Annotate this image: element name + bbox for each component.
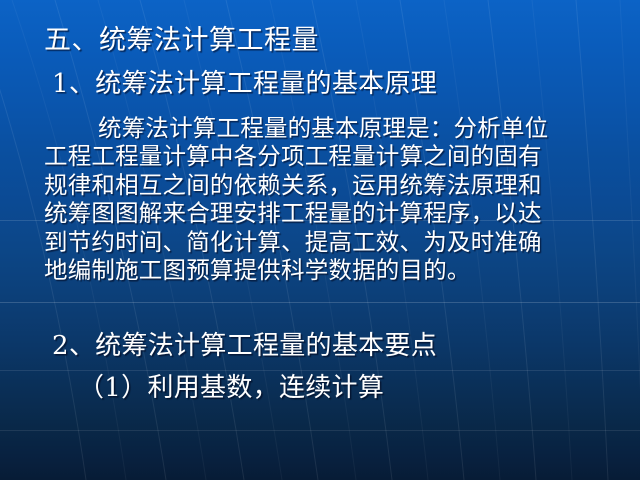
slide-subtitle: 1、统筹法计算工程量的基本原理 (52, 71, 437, 98)
presentation-slide: 五、统筹法计算工程量 1、统筹法计算工程量的基本原理 统筹法计算工程量的基本原理… (0, 0, 640, 480)
body-paragraph: 统筹法计算工程量的基本原理是：分析单位 工程工程量计算中各分项工程量计算之间的固… (44, 114, 596, 284)
body-line: 规律和相互之间的依赖关系，运用统筹法原理和 (44, 171, 596, 199)
section-heading-2: 2、统筹法计算工程量的基本要点 (52, 333, 437, 360)
body-line: 地编制施工图预算提供科学数据的目的。 (44, 256, 596, 284)
slide-content: 五、统筹法计算工程量 1、统筹法计算工程量的基本原理 统筹法计算工程量的基本原理… (0, 0, 640, 480)
body-line: 工程工程量计算中各分项工程量计算之间的固有 (44, 142, 596, 170)
body-line: 统筹图图解来合理安排工程量的计算程序，以达 (44, 199, 596, 227)
slide-title: 五、统筹法计算工程量 (44, 27, 319, 55)
body-line: 统筹法计算工程量的基本原理是：分析单位 (44, 114, 596, 142)
section-2-item-1: （1）利用基数，连续计算 (78, 375, 384, 402)
body-line: 到节约时间、简化计算、提高工效、为及时准确 (44, 228, 596, 256)
